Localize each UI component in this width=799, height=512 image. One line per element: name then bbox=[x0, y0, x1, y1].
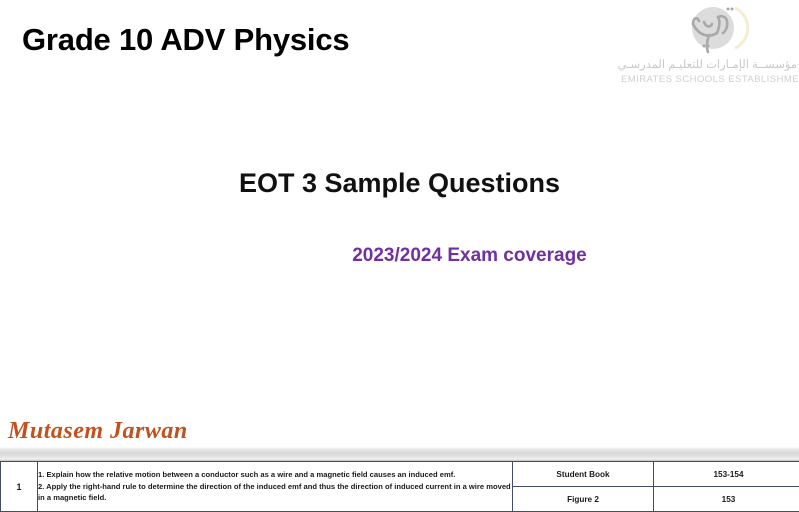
page-cell-figure: 153 bbox=[654, 487, 799, 512]
objective-item-2: 2. Apply the right-hand rule to determin… bbox=[38, 481, 512, 504]
learning-objectives-table: 1 1. Explain how the relative motion bet… bbox=[0, 461, 799, 512]
page-break-divider bbox=[0, 447, 799, 461]
slide-subtitle: EOT 3 Sample Questions bbox=[0, 168, 799, 199]
objective-item-1: 1. Explain how the relative motion betwe… bbox=[38, 469, 512, 481]
slide-canvas: Grade 10 ADV Physics مؤسســة الإمـارات ل… bbox=[0, 0, 799, 447]
source-cell-figure: Figure 2 bbox=[513, 487, 654, 512]
author-signature: Mutasem Jarwan bbox=[8, 418, 188, 445]
page-title: Grade 10 ADV Physics bbox=[22, 22, 349, 58]
source-cell-student-book: Student Book bbox=[513, 462, 654, 487]
logo-wordmark-arabic: مؤسســة الإمـارات للتعليـم المدرسـي bbox=[621, 57, 797, 71]
objectives-cell: 1. Explain how the relative motion betwe… bbox=[38, 462, 513, 512]
table-row: 1 1. Explain how the relative motion bet… bbox=[1, 462, 799, 487]
page-cell-student-book: 153-154 bbox=[654, 462, 799, 487]
exam-coverage-label: 2023/2024 Exam coverage bbox=[0, 245, 799, 267]
ese-emblem-icon bbox=[673, 2, 751, 56]
logo-wordmark-english: EMIRATES SCHOOLS ESTABLISHMENT bbox=[621, 74, 797, 85]
row-number-cell: 1 bbox=[1, 462, 38, 512]
emirates-schools-establishment-logo: مؤسســة الإمـارات للتعليـم المدرسـي EMIR… bbox=[621, 2, 797, 94]
